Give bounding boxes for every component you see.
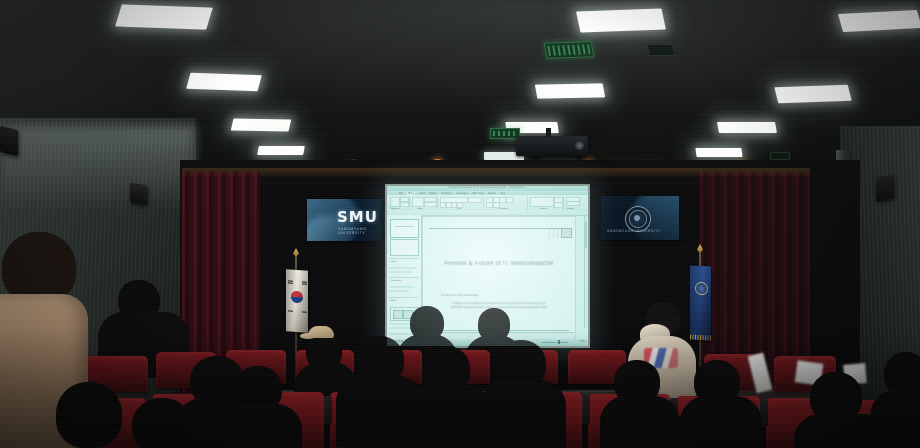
armrest	[582, 396, 590, 424]
torso	[480, 380, 566, 448]
powerpoint-ribbon[interactable]: Clipboard Slides Font	[387, 195, 588, 212]
scrollbar-thumb[interactable]	[585, 222, 588, 248]
panel-row[interactable]	[389, 290, 409, 292]
ceiling-lamp	[535, 83, 605, 98]
ribbon-label-font: Font	[457, 208, 461, 210]
ceiling-lamp	[576, 8, 666, 32]
panel-divider	[389, 258, 419, 259]
ceiling-vent	[770, 152, 790, 160]
projector-mount	[546, 128, 551, 137]
panel-divider	[389, 297, 419, 298]
ribbon-group-slides: Slides	[411, 196, 438, 210]
ribbon-label-clipboard: Clipboard	[390, 208, 399, 210]
ribbon-group-font: Font	[439, 196, 484, 210]
ceiling-vent	[647, 44, 676, 56]
panel-row[interactable]	[389, 286, 415, 288]
korean-flag-shading	[286, 269, 308, 333]
zoom-slider-knob[interactable]	[558, 340, 560, 344]
smu-logo-text: SMU	[337, 210, 378, 225]
slide-title: Present & Future of IT Semiconductor	[423, 261, 575, 267]
slide-corner-badge-icon	[561, 228, 572, 238]
head	[132, 398, 192, 448]
ribbon-group-paragraph: Paragraph	[485, 196, 528, 210]
projector-lens-icon	[575, 141, 584, 150]
panel-row[interactable]	[389, 267, 417, 269]
head	[56, 382, 122, 448]
university-flag-shading	[690, 265, 711, 340]
panel-icon-a[interactable]	[393, 310, 403, 319]
panel-pane-title: Slide 1	[390, 300, 397, 302]
panel-row[interactable]	[389, 271, 411, 273]
wall-speaker	[876, 174, 894, 201]
ceiling-lamp	[186, 73, 262, 92]
torso	[218, 404, 302, 448]
torso	[406, 384, 490, 448]
ribbon-label-slides: Slides	[417, 208, 423, 210]
ribbon-label-editing: Editing	[567, 208, 574, 210]
left-wall-light-reflection	[0, 126, 196, 212]
university-seal-banner-right: SANGMYUNG UNIVERSITY	[601, 196, 679, 240]
shapes-gallery[interactable]	[530, 197, 554, 207]
torso	[870, 390, 920, 448]
exit-sign-icon	[544, 41, 595, 59]
panel-label-outline[interactable]: Outline	[390, 261, 397, 263]
ceiling-lamp	[115, 4, 213, 29]
ceiling-lamp	[717, 122, 777, 133]
slide-thumbnail-1[interactable]	[390, 219, 419, 238]
university-flag	[690, 265, 711, 340]
ribbon-group-drawing: Drawing	[529, 196, 564, 210]
seal-banner-subtitle: SANGMYUNG UNIVERSITY	[607, 229, 661, 233]
torso	[600, 396, 680, 448]
font-size-select[interactable]	[468, 197, 482, 203]
ribbon-group-editing: Editing	[565, 196, 587, 210]
armrest	[324, 396, 332, 424]
font-color-button[interactable]	[457, 202, 463, 208]
paste-button[interactable]	[390, 197, 400, 207]
korean-flag	[286, 269, 308, 333]
cap-brim-icon	[300, 333, 316, 339]
ribbon-group-clipboard: Clipboard	[389, 196, 410, 210]
shape-outline-button[interactable]	[554, 202, 563, 208]
ceiling-lamp	[695, 148, 742, 157]
slide-scrollbar[interactable]	[584, 216, 589, 328]
wall-speaker	[0, 126, 18, 156]
smu-banner-left: SMU SANGMYUNG UNIVERSITY	[307, 199, 381, 241]
replace-button[interactable]	[566, 201, 580, 206]
ribbon-label-drawing: Drawing	[539, 208, 547, 210]
wall-speaker	[130, 183, 147, 206]
powerpoint-title-text: Present & Future of IT Semiconductor.ppt…	[449, 186, 524, 189]
new-slide-button[interactable]	[412, 197, 424, 207]
ribbon-label-paragraph: Paragraph	[498, 208, 508, 210]
copy-button[interactable]	[400, 202, 409, 207]
smu-logo-subtitle: SANGMYUNG UNIVERSITY	[338, 227, 381, 235]
reset-button[interactable]	[424, 202, 437, 207]
line-spacing-button[interactable]	[486, 202, 493, 208]
align-left-button[interactable]	[499, 197, 506, 203]
thumbnail-title-line	[395, 226, 414, 227]
slide-header-rule	[429, 228, 569, 229]
slide-thumbnail-2[interactable]	[390, 239, 419, 256]
align-center-button[interactable]	[506, 197, 513, 203]
panel-label-thumbnails[interactable]: Thumbnails	[390, 280, 401, 282]
ceiling-lamp	[231, 118, 292, 131]
slide-subtitle: Current Trend of Technology	[441, 293, 479, 297]
auditorium-scene: SMU SANGMYUNG UNIVERSITY SANGMYUNG UNIVE…	[0, 0, 920, 448]
torso	[680, 396, 762, 448]
status-zoom-level[interactable]: 72%	[580, 340, 585, 343]
zoom-slider[interactable]	[542, 342, 568, 343]
panel-divider	[389, 277, 419, 278]
ceiling-lamp	[774, 85, 851, 104]
ceiling-projector	[516, 136, 588, 156]
ceiling-lamp	[257, 146, 305, 155]
columns-button[interactable]	[493, 202, 500, 208]
